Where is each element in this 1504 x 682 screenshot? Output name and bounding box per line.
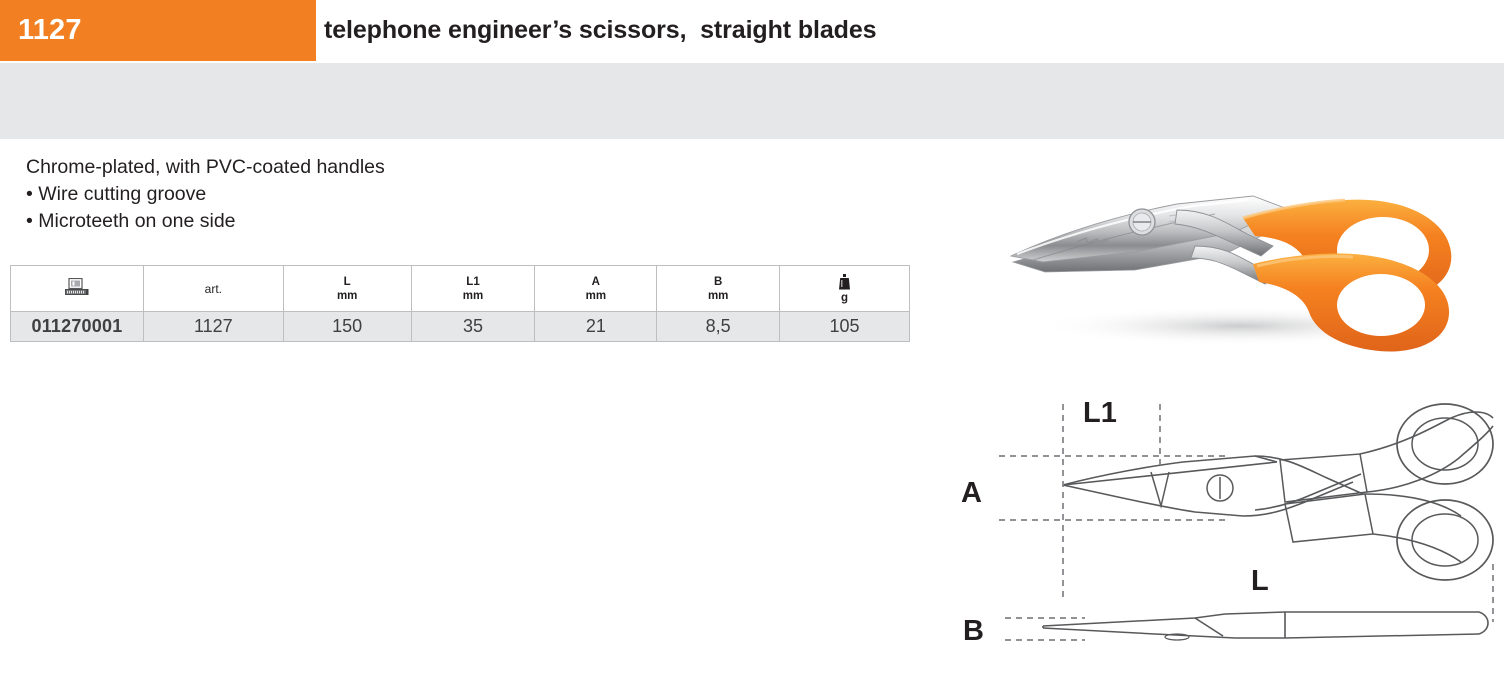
page-title: telephone engineer’s scissors, straight … xyxy=(324,0,876,61)
table-header-row: art. L mm L1 mm A xyxy=(11,266,910,312)
table-body: 011270001 1127 150 35 21 8,5 105 xyxy=(11,312,910,342)
table-header: art. L mm L1 mm A xyxy=(11,266,910,312)
column-header-b-symbol: B xyxy=(714,276,722,288)
product-code-text: 1127 xyxy=(0,16,82,45)
ean-code-icon xyxy=(65,278,89,297)
column-header-a: A mm xyxy=(535,266,657,312)
column-header-l-unit: mm xyxy=(337,290,357,302)
cell-l1: 35 xyxy=(411,312,535,342)
cell-b: 8,5 xyxy=(657,312,780,342)
column-header-l1-symbol: L1 xyxy=(466,276,479,288)
catalog-page: 1127 telephone engineer’s scissors, stra… xyxy=(0,0,1504,682)
column-header-art: art. xyxy=(143,266,283,312)
column-header-l1: L1 mm xyxy=(411,266,535,312)
column-header-weight-unit: g xyxy=(841,292,848,304)
description-line: • Microteeth on one side xyxy=(26,208,666,235)
cell-a: 21 xyxy=(535,312,657,342)
technical-drawing: L1 A L B xyxy=(955,382,1500,667)
column-header-weight: g xyxy=(780,266,910,312)
column-header-b-unit: mm xyxy=(708,290,728,302)
specification-table: art. L mm L1 mm A xyxy=(10,265,910,342)
description-line: Chrome-plated, with PVC-coated handles xyxy=(26,154,666,181)
cell-l: 150 xyxy=(283,312,411,342)
dimension-label-b: B xyxy=(963,615,984,647)
cell-art: 1127 xyxy=(143,312,283,342)
cell-weight: 105 xyxy=(780,312,910,342)
description-line: • Wire cutting groove xyxy=(26,181,666,208)
weight-icon xyxy=(838,274,851,290)
column-header-art-label: art. xyxy=(205,283,222,295)
header-gray-band xyxy=(0,63,1504,139)
column-header-l1-unit: mm xyxy=(463,290,483,302)
column-header-a-unit: mm xyxy=(586,290,606,302)
column-header-a-symbol: A xyxy=(592,276,600,288)
column-header-b: B mm xyxy=(657,266,780,312)
column-header-l-symbol: L xyxy=(344,276,351,288)
dimension-label-l1: L1 xyxy=(1083,397,1117,429)
product-description: Chrome-plated, with PVC-coated handles •… xyxy=(26,154,666,235)
table-row: 011270001 1127 150 35 21 8,5 105 xyxy=(11,312,910,342)
product-photo xyxy=(985,150,1485,365)
page-header: 1127 telephone engineer’s scissors, stra… xyxy=(0,0,1504,61)
cell-ean: 011270001 xyxy=(11,312,144,342)
product-code-badge: 1127 xyxy=(0,0,316,61)
dimension-label-a: A xyxy=(961,477,982,509)
column-header-ean xyxy=(11,266,144,312)
dimension-label-l: L xyxy=(1251,565,1269,597)
column-header-l: L mm xyxy=(283,266,411,312)
